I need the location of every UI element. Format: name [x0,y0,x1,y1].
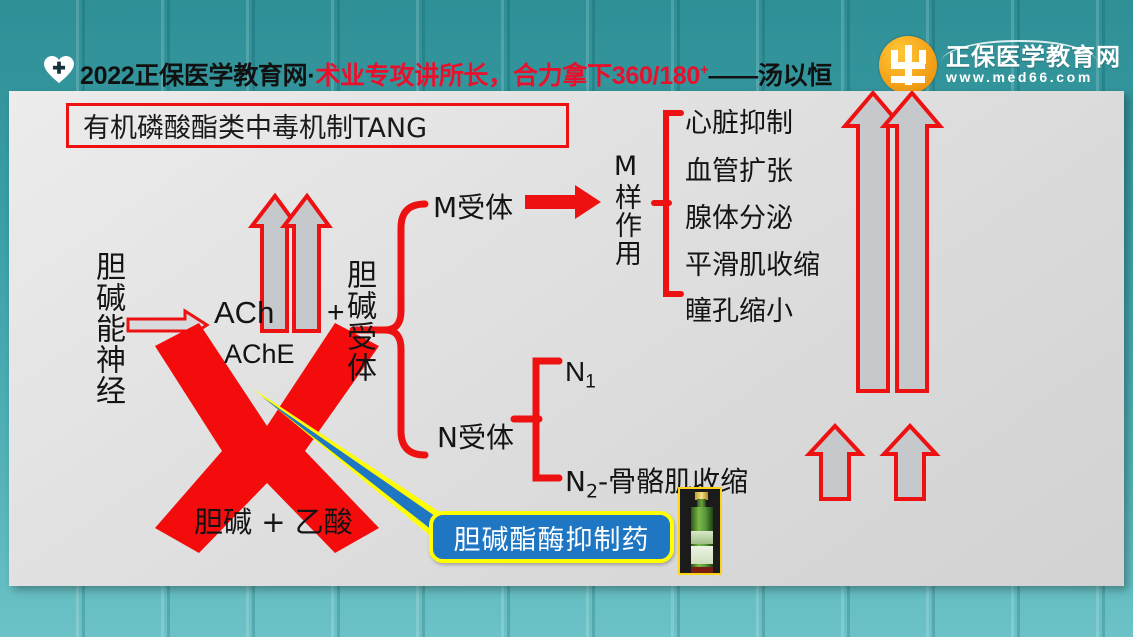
brand-logo: 正保医学教育网 www.med66.com [879,34,1121,96]
label-ache: AChE [224,339,295,370]
cross-circle-logo-icon [879,36,937,94]
header-banner: 2022正保医学教育网·术业专攻讲所长，合力拿下360/180+——汤以恒 正保… [0,20,1133,90]
double-up-arrow-icon-lower [809,426,936,499]
label-m-type-effects: M样作用 [612,151,639,267]
right-arrow-icon [525,185,601,219]
label-cholinergic-nerve: 胆碱能神经 [92,251,122,406]
n2-suffix: -骨骼肌收缩 [598,465,748,498]
brand-url: www.med66.com [946,70,1121,85]
n2-letter: N [565,465,586,498]
heart-plus-icon [44,56,74,84]
square-brace-icon-m [654,113,681,294]
label-choline-plus-acetic-acid: 胆碱 + 乙酸 [194,499,353,541]
n2-subscript: 2 [586,481,598,503]
title-prefix: 2022正保医学教育网· [80,62,315,90]
list-item-m-effect: 腺体分泌 [685,196,793,235]
slide-title-box: 有机磷酸酯类中毒机制TANG [66,103,569,148]
label-n-receptor: N受体 [437,416,514,456]
label-m-receptor: M受体 [433,186,513,226]
list-item-m-effect: 平滑肌收缩 [685,243,820,282]
callout-label: 胆碱酯酶抑制药 [454,518,650,557]
pesticide-bottle-image [678,487,722,575]
double-up-arrow-icon-tall [845,93,940,391]
n1-letter: N [565,356,585,387]
square-brace-icon-n [514,361,559,478]
slide-viewer: 2022正保医学教育网·术业专攻讲所长，合力拿下360/180+——汤以恒 正保… [0,0,1133,637]
callout-cholinesterase-inhibitor: 胆碱酯酶抑制药 [429,511,674,563]
label-cholinergic-receptor: 胆碱受体 [343,259,373,383]
list-item-m-effect: 心脏抑制 [685,101,793,140]
title-highlight: 术业专攻讲所长，合力拿下360/180 [315,62,700,90]
slide-canvas: 有机磷酸酯类中毒机制TANG 胆碱能神经 ACh + AChE 胆碱受体 胆碱 … [9,91,1124,586]
list-item-m-effect: 血管扩张 [685,149,793,188]
title-suffix: ——汤以恒 [708,62,832,90]
page-title: 2022正保医学教育网·术业专攻讲所长，合力拿下360/180+——汤以恒 [80,56,832,92]
list-item-m-effect: 瞳孔缩小 [685,289,793,328]
slide-title-label: 有机磷酸酯类中毒机制TANG [69,106,427,145]
n1-subscript: 1 [585,372,596,393]
label-n1-receptor: N1 [565,356,596,394]
label-ach: ACh [214,295,274,331]
